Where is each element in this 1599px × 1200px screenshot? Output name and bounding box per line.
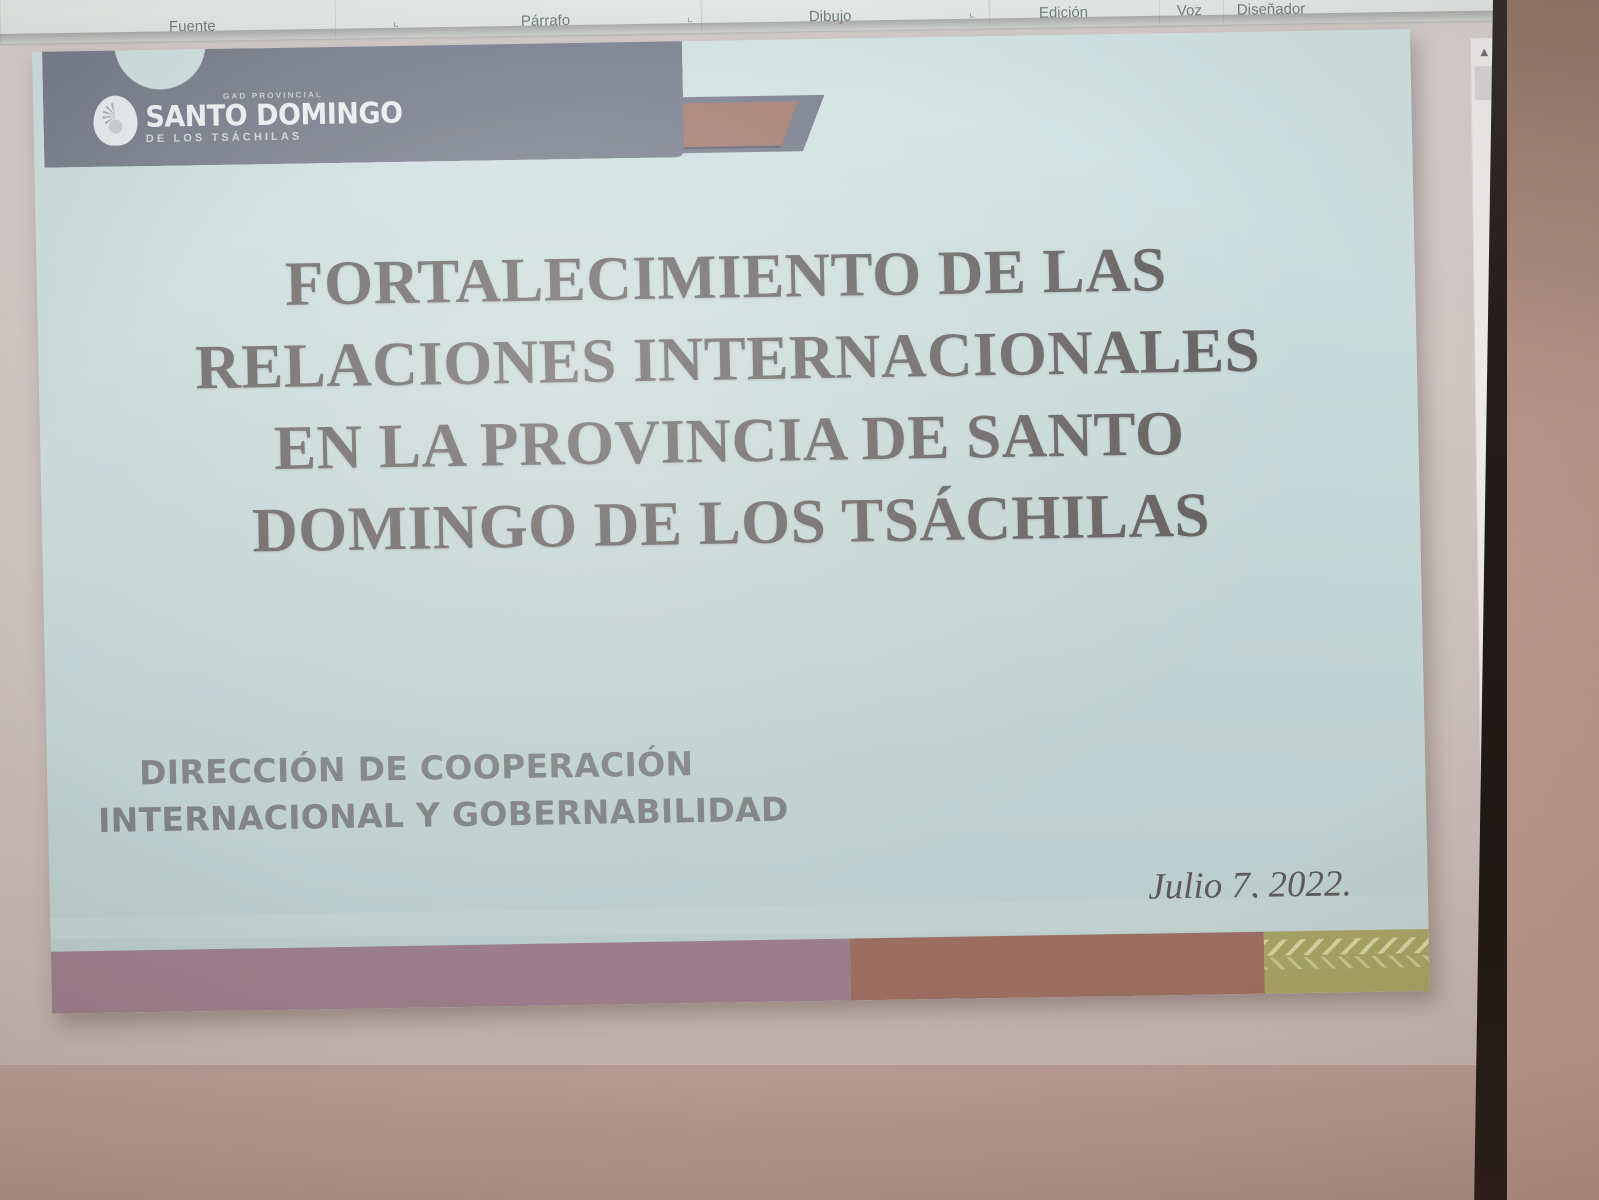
slide-canvas[interactable]: GAD PROVINCIAL SANTO DOMINGO DE LOS TSÁC…: [32, 29, 1430, 1014]
santo-domingo-logo: GAD PROVINCIAL SANTO DOMINGO DE LOS TSÁC…: [93, 90, 403, 146]
band-segment-terracotta: [850, 932, 1265, 1001]
band-segment-olive-pattern: [1263, 929, 1430, 994]
logo-wordmark: GAD PROVINCIAL SANTO DOMINGO DE LOS TSÁC…: [145, 90, 403, 145]
sunburst-shield-icon: [93, 95, 138, 146]
slide-subtitle[interactable]: DIRECCIÓN DE COOPERACIÓN INTERNACIONAL Y…: [139, 737, 961, 844]
powerpoint-window: Reemplazar Ideas de diseño Fuente ⌞ Párr…: [0, 0, 1507, 1065]
logo-name: SANTO DOMINGO: [145, 99, 403, 132]
photographed-screen-backdrop: Reemplazar Ideas de diseño Fuente ⌞ Párr…: [0, 0, 1599, 1200]
slide-title[interactable]: FORTALECIMIENTO DE LAS RELACIONES INTERN…: [36, 225, 1421, 575]
footer-decorative-band: [51, 929, 1430, 1014]
wall-background: [1507, 0, 1599, 1200]
slide-surface: GAD PROVINCIAL SANTO DOMINGO DE LOS TSÁC…: [32, 29, 1430, 1014]
band-segment-mauve: [51, 939, 851, 1014]
